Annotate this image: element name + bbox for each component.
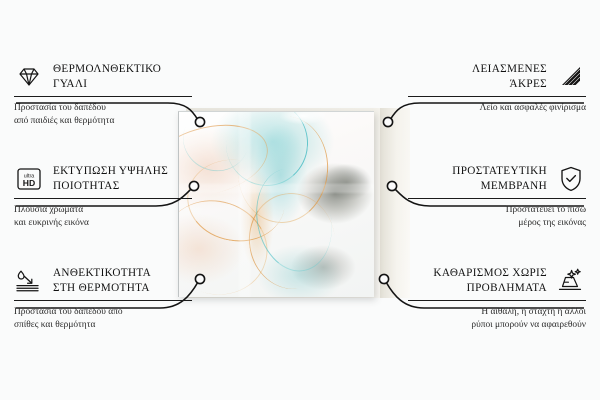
glass-glare [280, 111, 326, 124]
shield-check-icon [556, 164, 586, 194]
glass-reflection [179, 112, 374, 297]
glass-panel [178, 111, 374, 297]
diamond-icon [14, 62, 44, 92]
feature-title: ΠΡΟΣΤΑΤΕΥΤΙΚΗ ΜΕΜΒΡΑΝΗ [452, 164, 547, 194]
feature-subtitle: Προστασία του δαπέδου από σπίθες και θερ… [14, 306, 192, 333]
feature-header: ΑΝΘΕΚΤΙΚΟΤΗΤΑ ΣΤΗ ΘΕΡΜΟΤΗΤΑ [14, 266, 192, 296]
feature-subtitle: Η αιθάλη, η στάχτη ή άλλοι ρύποι μπορούν… [408, 306, 586, 333]
feature-smoothed-edges[interactable]: ΛΕΙΑΣΜΕΝΕΣ ΆΚΡΕΣ Λείο και ασφαλές φινίρι… [408, 62, 586, 115]
feature-divider [14, 198, 192, 199]
feature-divider [14, 300, 192, 301]
hatched-triangle-icon [556, 62, 586, 92]
feature-divider [408, 300, 586, 301]
feature-protective-membrane[interactable]: ΠΡΟΣΤΑΤΕΥΤΙΚΗ ΜΕΜΒΡΑΝΗ Προστατεύει το πί… [408, 164, 586, 231]
feature-subtitle: Λείο και ασφαλές φινίρισμα [408, 102, 586, 115]
svg-text:HD: HD [23, 178, 35, 188]
feature-title: ΚΑΘΑΡΙΣΜΟΣ ΧΩΡΙΣ ΠΡΟΒΛΗΜΑΤΑ [433, 266, 547, 296]
feature-heat-durability[interactable]: ΑΝΘΕΚΤΙΚΟΤΗΤΑ ΣΤΗ ΘΕΡΜΟΤΗΤΑ Προστασία το… [14, 266, 192, 333]
product-backing-edge [380, 108, 410, 298]
feature-title: ΛΕΙΑΣΜΕΝΕΣ ΆΚΡΕΣ [472, 62, 547, 92]
feature-title: ΑΝΘΕΚΤΙΚΟΤΗΤΑ ΣΤΗ ΘΕΡΜΟΤΗΤΑ [53, 266, 151, 296]
feature-subtitle: Προστασία του δαπέδου από παιδιές και θε… [14, 102, 192, 129]
feature-header: ΛΕΙΑΣΜΕΝΕΣ ΆΚΡΕΣ [408, 62, 586, 92]
feature-header: ΚΑΘΑΡΙΣΜΟΣ ΧΩΡΙΣ ΠΡΟΒΛΗΜΑΤΑ [408, 266, 586, 296]
feature-subtitle: Πλούσια χρώματα και ευκρινής εικόνα [14, 204, 192, 231]
feature-easy-cleaning[interactable]: ΚΑΘΑΡΙΣΜΟΣ ΧΩΡΙΣ ΠΡΟΒΛΗΜΑΤΑ Η αιθάλη, η … [408, 266, 586, 333]
feature-header: ultra HD ΕΚΤΥΠΩΣΗ ΥΨΗΛΗΣ ΠΟΙΟΤΗΤΑΣ [14, 164, 192, 194]
infographic-stage: ΘΕΡΜΟΛΝΘΕΚΤΙΚΟ ΓΥΑΛΙ Προστασία του δαπέδ… [0, 0, 600, 400]
product-image [178, 108, 410, 298]
flame-deflect-icon [14, 266, 44, 296]
feature-high-quality-print[interactable]: ultra HD ΕΚΤΥΠΩΣΗ ΥΨΗΛΗΣ ΠΟΙΟΤΗΤΑΣ Πλούσ… [14, 164, 192, 231]
feature-heat-resistant-glass[interactable]: ΘΕΡΜΟΛΝΘΕΚΤΙΚΟ ΓΥΑΛΙ Προστασία του δαπέδ… [14, 62, 192, 129]
feature-divider [408, 198, 586, 199]
feature-title: ΘΕΡΜΟΛΝΘΕΚΤΙΚΟ ΓΥΑΛΙ [53, 62, 161, 92]
feature-divider [408, 96, 586, 97]
feature-header: ΠΡΟΣΤΑΤΕΥΤΙΚΗ ΜΕΜΒΡΑΝΗ [408, 164, 586, 194]
feature-subtitle: Προστατεύει το πίσω μέρος της εικόνας [408, 204, 586, 231]
feature-header: ΘΕΡΜΟΛΝΘΕΚΤΙΚΟ ΓΥΑΛΙ [14, 62, 192, 92]
sponge-sparkle-icon [556, 266, 586, 296]
feature-title: ΕΚΤΥΠΩΣΗ ΥΨΗΛΗΣ ΠΟΙΟΤΗΤΑΣ [53, 164, 168, 194]
ultra-hd-icon: ultra HD [14, 164, 44, 194]
feature-divider [14, 96, 192, 97]
